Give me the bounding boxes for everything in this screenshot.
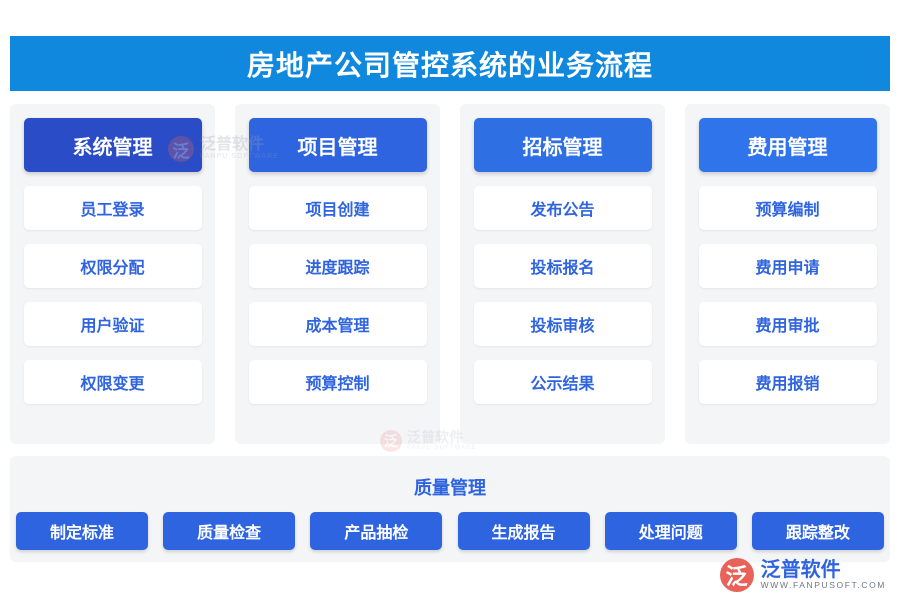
column-item[interactable]: 用户验证 [24, 302, 202, 346]
column-item[interactable]: 预算控制 [249, 360, 427, 404]
column-item[interactable]: 进度跟踪 [249, 244, 427, 288]
column-project-management: 项目管理 项目创建 进度跟踪 成本管理 预算控制 [235, 104, 440, 444]
brand-name: 泛普软件 [761, 560, 886, 580]
quality-item[interactable]: 制定标准 [16, 512, 148, 550]
column-header-project-management[interactable]: 项目管理 [249, 118, 427, 172]
brand-logo-icon: 泛 [720, 558, 754, 592]
quality-item[interactable]: 产品抽检 [310, 512, 442, 550]
watermark-brand-sub: FANPU SOFTWARE [407, 444, 476, 452]
column-item[interactable]: 费用申请 [699, 244, 877, 288]
column-item[interactable]: 投标审核 [474, 302, 652, 346]
column-item[interactable]: 费用报销 [699, 360, 877, 404]
column-expense-management: 费用管理 预算编制 费用申请 费用审批 费用报销 [685, 104, 890, 444]
column-system-management: 系统管理 员工登录 权限分配 用户验证 权限变更 [10, 104, 215, 444]
brand-logo: 泛 泛普软件 WWW.FANPUSOFT.COM [720, 558, 886, 592]
column-item[interactable]: 预算编制 [699, 186, 877, 230]
brand-logo-text: 泛普软件 WWW.FANPUSOFT.COM [761, 560, 886, 591]
column-item[interactable]: 员工登录 [24, 186, 202, 230]
quality-items-row: 制定标准 质量检查 产品抽检 生成报告 处理问题 跟踪整改 [10, 512, 890, 550]
quality-item[interactable]: 处理问题 [605, 512, 737, 550]
column-item[interactable]: 费用审批 [699, 302, 877, 346]
column-item[interactable]: 项目创建 [249, 186, 427, 230]
quality-item[interactable]: 质量检查 [163, 512, 295, 550]
column-header-bidding-management[interactable]: 招标管理 [474, 118, 652, 172]
column-item[interactable]: 发布公告 [474, 186, 652, 230]
column-item[interactable]: 投标报名 [474, 244, 652, 288]
diagram-title-bar: 房地产公司管控系统的业务流程 [10, 36, 890, 91]
column-bidding-management: 招标管理 发布公告 投标报名 投标审核 公示结果 [460, 104, 665, 444]
columns-container: 系统管理 员工登录 权限分配 用户验证 权限变更 项目管理 项目创建 进度跟踪 … [10, 104, 890, 444]
quality-item[interactable]: 生成报告 [458, 512, 590, 550]
diagram-page: 房地产公司管控系统的业务流程 系统管理 员工登录 权限分配 用户验证 权限变更 … [0, 0, 900, 600]
column-item[interactable]: 公示结果 [474, 360, 652, 404]
column-item[interactable]: 权限变更 [24, 360, 202, 404]
brand-website: WWW.FANPUSOFT.COM [761, 580, 886, 591]
quality-item[interactable]: 跟踪整改 [752, 512, 884, 550]
column-item[interactable]: 权限分配 [24, 244, 202, 288]
column-item[interactable]: 成本管理 [249, 302, 427, 346]
column-header-expense-management[interactable]: 费用管理 [699, 118, 877, 172]
page-title: 房地产公司管控系统的业务流程 [247, 44, 653, 84]
column-header-system-management[interactable]: 系统管理 [24, 118, 202, 172]
quality-management-title: 质量管理 [10, 474, 890, 500]
